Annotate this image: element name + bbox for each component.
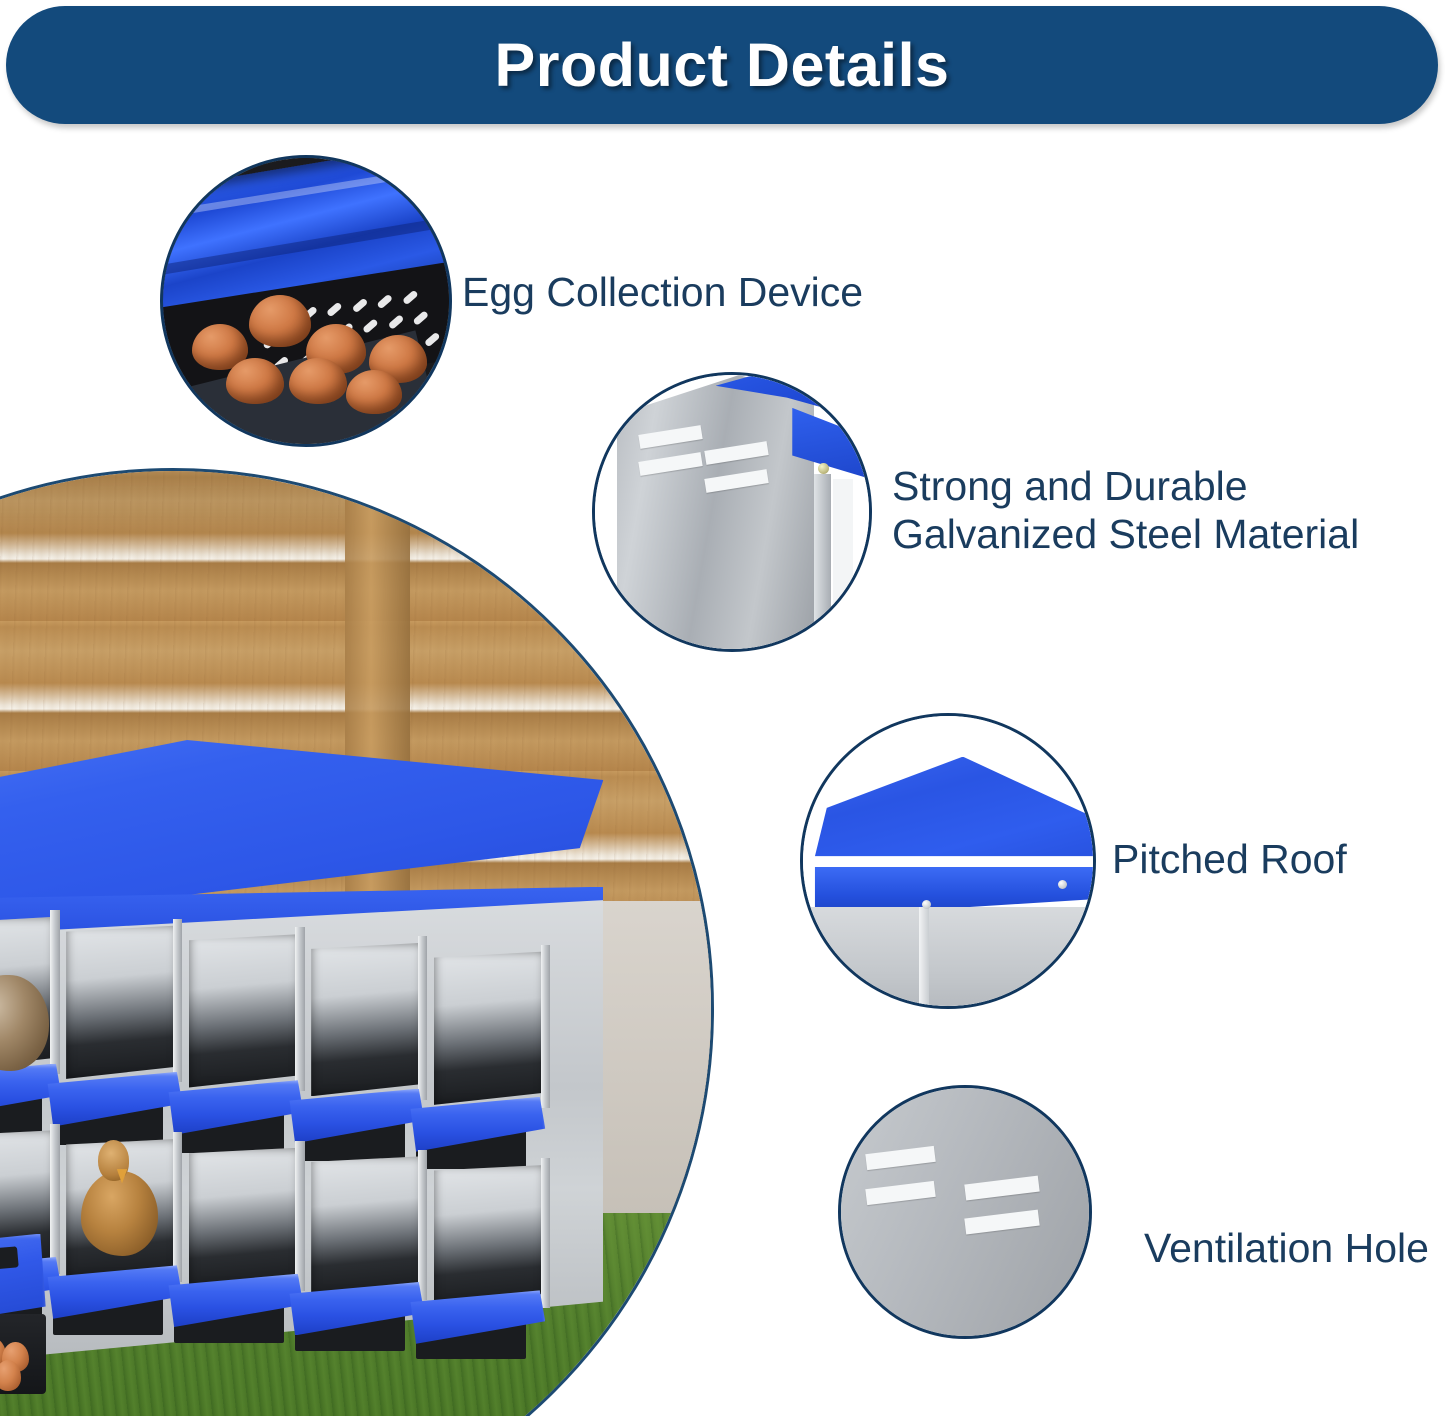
nest-compartment-opening: [434, 951, 546, 1104]
gray-wall-below-roof: [803, 907, 1093, 1009]
corner-post: [814, 474, 830, 652]
hen-body: [0, 975, 49, 1070]
egg-tray-closeup-icon: [163, 158, 449, 444]
vent-slot: [865, 1181, 936, 1205]
compartment-divider: [418, 936, 427, 1099]
nest-compartment-opening: [189, 1148, 301, 1288]
rivet-icon: [1058, 880, 1067, 889]
feature-label-galvanized-steel-material: Strong and Durable Galvanized Steel Mate…: [892, 462, 1412, 559]
tray-perforation: [376, 294, 393, 310]
nesting-box-product: [0, 740, 603, 1407]
tray-perforation: [401, 290, 418, 306]
hen-body: [81, 1171, 159, 1255]
egg: [289, 358, 347, 404]
compartment-divider: [295, 927, 304, 1090]
tray-perforation: [326, 302, 343, 318]
vent-slot: [964, 1210, 1040, 1235]
nest-compartment-opening: [434, 1165, 546, 1305]
feature-image-pitched-roof: [800, 713, 1096, 1009]
rivet-icon: [922, 900, 931, 909]
vent-slot: [865, 1146, 936, 1170]
nest-compartment-opening: [311, 1156, 423, 1296]
compartment-divider: [418, 1150, 427, 1300]
compartment-divider: [50, 1124, 59, 1274]
compartment-divider: [541, 945, 550, 1108]
compartment-divider: [173, 919, 182, 1082]
tray-perforation: [423, 331, 440, 347]
compartment-divider: [541, 1158, 550, 1308]
hero-scene: [0, 471, 711, 1416]
pitched-roof-closeup-icon: [803, 716, 1093, 1006]
nest-compartment-opening: [66, 925, 178, 1078]
hen-bottom-row: [77, 1140, 163, 1260]
nest-compartment-opening: [311, 943, 423, 1096]
vent-slot: [964, 1175, 1040, 1200]
product-hero-photo: [0, 468, 714, 1416]
compartment-divider: [295, 1141, 304, 1291]
feature-image-ventilation-hole: [838, 1085, 1092, 1339]
page-title: Product Details: [495, 30, 950, 100]
product-details-infographic: Product Details Egg Collection Device St…: [0, 0, 1445, 1416]
header-banner: Product Details: [6, 6, 1438, 124]
screw-icon: [818, 463, 829, 474]
compartment-divider: [173, 1132, 182, 1282]
tray-perforation: [351, 298, 368, 314]
tray-perforation: [412, 310, 429, 326]
tray-perforation: [362, 318, 379, 334]
feature-image-egg-collection-device: [160, 155, 452, 447]
ventilation-slots-closeup-icon: [841, 1088, 1089, 1336]
feature-label-ventilation-hole: Ventilation Hole: [1144, 1224, 1444, 1272]
inner-post-highlight: [833, 479, 852, 649]
hen-top-row: [0, 933, 57, 1073]
wall-pillar: [919, 907, 929, 1009]
feature-label-egg-collection-device: Egg Collection Device: [462, 268, 932, 316]
nest-compartment-opening: [189, 934, 301, 1087]
egg: [249, 295, 311, 347]
egg: [226, 358, 284, 404]
feature-label-pitched-roof: Pitched Roof: [1112, 835, 1432, 883]
tray-perforation: [387, 314, 404, 330]
